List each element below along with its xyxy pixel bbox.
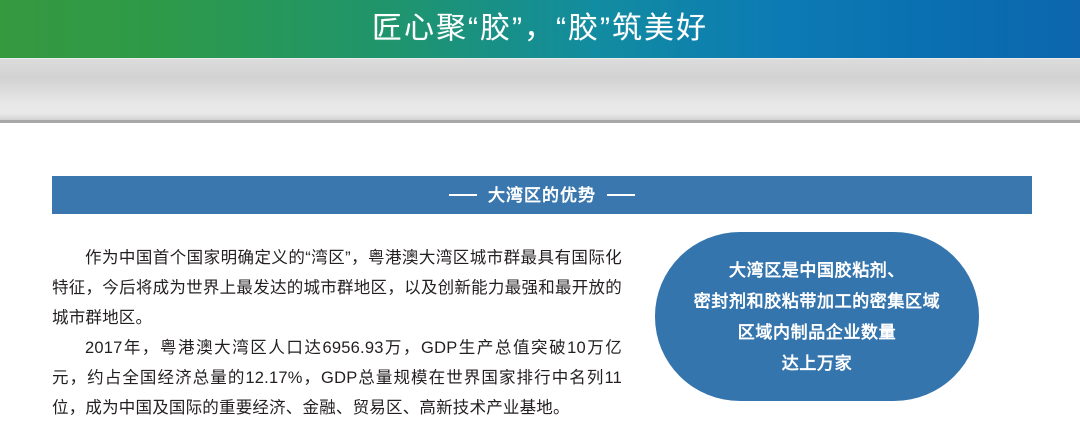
banner-right-rule-icon — [607, 194, 635, 196]
highlight-line-4: 达上万家 — [782, 348, 852, 379]
section-banner-label: 大湾区的优势 — [488, 187, 596, 204]
section-banner-inner: 大湾区的优势 — [449, 187, 635, 204]
highlight-line-3: 区域内制品企业数量 — [738, 317, 896, 348]
banner-left-rule-icon — [449, 194, 477, 196]
highlight-callout: 大湾区是中国胶粘剂、 密封剂和胶粘带加工的密集区域 区域内制品企业数量 达上万家 — [655, 232, 979, 401]
page-header-band: 匠心聚“胶”，“胶”筑美好 — [0, 0, 1080, 58]
page-title: 匠心聚“胶”，“胶”筑美好 — [372, 14, 708, 44]
header-gray-band — [0, 58, 1080, 121]
body-paragraph-1: 作为中国首个国家明确定义的“湾区”，粤港澳大湾区城市群最具有国际化特征，今后将成… — [52, 243, 622, 333]
main-content: 大湾区的优势 作为中国首个国家明确定义的“湾区”，粤港澳大湾区城市群最具有国际化… — [0, 123, 1080, 446]
highlight-line-2: 密封剂和胶粘带加工的密集区域 — [694, 286, 940, 317]
body-copy: 作为中国首个国家明确定义的“湾区”，粤港澳大湾区城市群最具有国际化特征，今后将成… — [52, 243, 622, 423]
body-paragraph-2: 2017年，粤港澳大湾区人口达6956.93万，GDP生产总值突破10万亿元，约… — [52, 333, 622, 423]
highlight-line-1: 大湾区是中国胶粘剂、 — [729, 255, 905, 286]
section-banner: 大湾区的优势 — [52, 176, 1032, 214]
